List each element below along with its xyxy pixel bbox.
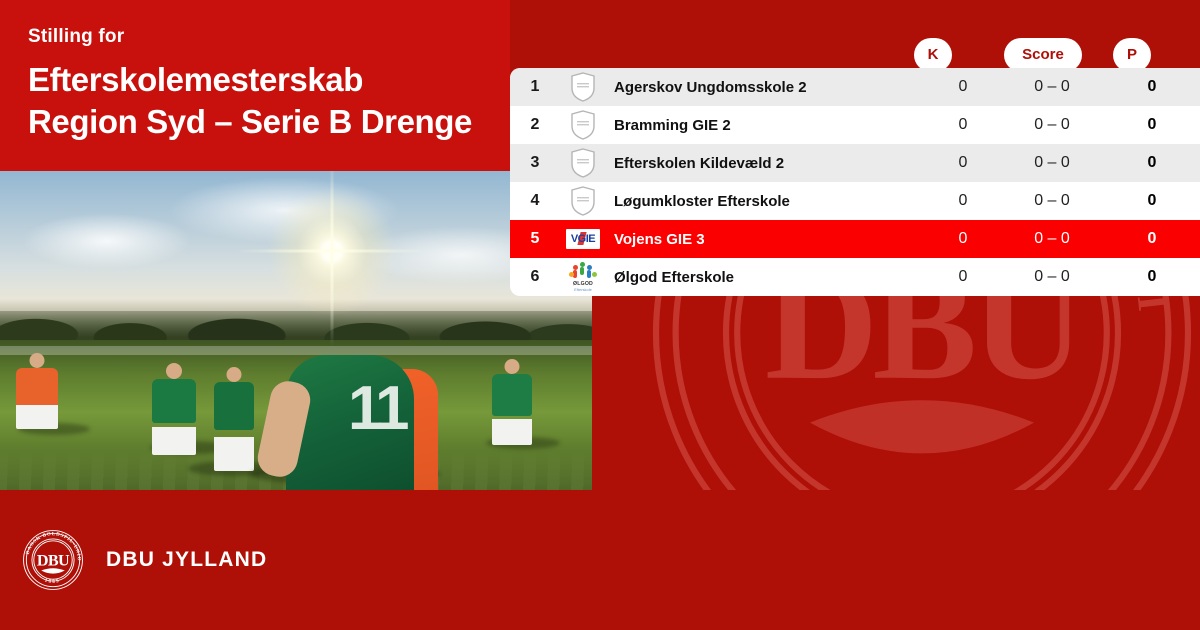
club-logo: ØLGOD Efterskole xyxy=(560,262,606,292)
background-player xyxy=(214,367,254,471)
background-player xyxy=(152,363,196,455)
footer-label: DBU JYLLAND xyxy=(106,548,267,572)
goal-score: 0 – 0 xyxy=(1000,192,1104,210)
matches-played: 0 xyxy=(926,192,1000,210)
club-name: Bramming GIE 2 xyxy=(606,117,926,134)
sun-flare xyxy=(267,186,397,316)
shield-placeholder-icon xyxy=(570,148,596,178)
matches-played: 0 xyxy=(926,230,1000,248)
club-logo xyxy=(560,72,606,102)
goal-score: 0 – 0 xyxy=(1000,78,1104,96)
shield-placeholder-icon xyxy=(570,72,596,102)
table-row-highlighted[interactable]: 5 VGIE Vojens GIE 3 0 0 – 0 0 xyxy=(510,220,1200,258)
points: 0 xyxy=(1104,78,1200,96)
table-row[interactable]: 6 ØLGOD Efterskole Ølgod Efterskole 0 0 … xyxy=(510,258,1200,296)
club-name: Efterskolen Kildevæld 2 xyxy=(606,155,926,172)
row-position: 6 xyxy=(510,268,560,286)
table-row[interactable]: 4 Løgumkloster Efterskole 0 0 – 0 0 xyxy=(510,182,1200,220)
row-position: 2 xyxy=(510,116,560,134)
matches-played: 0 xyxy=(926,268,1000,286)
table-column-badges: K Score P xyxy=(510,38,1200,72)
points: 0 xyxy=(1104,230,1200,248)
footer: DANSK BOLDSPIL-UNION 1889 DBU DBU JYLLAN… xyxy=(0,490,1200,630)
page-title: Efterskolemesterskab Region Syd – Serie … xyxy=(28,59,510,143)
olgod-club-logo-icon: ØLGOD Efterskole xyxy=(568,262,598,292)
dbu-logo-icon: DANSK BOLDSPIL-UNION 1889 DBU xyxy=(22,529,84,591)
goal-score: 0 – 0 xyxy=(1000,230,1104,248)
football-match-photo: 11 xyxy=(0,171,592,490)
points: 0 xyxy=(1104,154,1200,172)
header-kicker: Stilling for xyxy=(28,26,510,49)
table-row[interactable]: 2 Bramming GIE 2 0 0 – 0 0 xyxy=(510,106,1200,144)
club-name: Agerskov Ungdomsskole 2 xyxy=(606,79,926,96)
page-title-line2: Region Syd – Serie B Drenge xyxy=(28,101,510,143)
column-badge-p: P xyxy=(1113,38,1151,72)
shield-placeholder-icon xyxy=(570,186,596,216)
goal-score: 0 – 0 xyxy=(1000,154,1104,172)
table-row[interactable]: 1 Agerskov Ungdomsskole 2 0 0 – 0 0 xyxy=(510,68,1200,106)
goal-score: 0 – 0 xyxy=(1000,116,1104,134)
matches-played: 0 xyxy=(926,116,1000,134)
points: 0 xyxy=(1104,116,1200,134)
points: 0 xyxy=(1104,192,1200,210)
goal-score: 0 – 0 xyxy=(1000,268,1104,286)
background-player xyxy=(492,359,532,445)
matches-played: 0 xyxy=(926,154,1000,172)
olgod-logo-text-2: Efterskole xyxy=(568,287,598,292)
row-position: 3 xyxy=(510,154,560,172)
vgie-logo-text: VGIE xyxy=(571,233,595,245)
row-position: 4 xyxy=(510,192,560,210)
background-player xyxy=(16,353,58,429)
svg-text:1889: 1889 xyxy=(833,482,975,490)
club-logo: VGIE xyxy=(560,229,606,249)
club-name: Løgumkloster Efterskole xyxy=(606,193,926,210)
column-badge-score: Score xyxy=(1004,38,1082,72)
header-block: Stilling for Efterskolemesterskab Region… xyxy=(0,0,510,171)
club-name: Vojens GIE 3 xyxy=(606,231,926,248)
row-position: 5 xyxy=(510,230,560,248)
main-player: 11 xyxy=(268,347,430,490)
column-badge-k: K xyxy=(914,38,952,72)
standings-table: 1 Agerskov Ungdomsskole 2 0 0 – 0 0 2 Br… xyxy=(510,68,1200,296)
club-name: Ølgod Efterskole xyxy=(606,269,926,286)
table-row[interactable]: 3 Efterskolen Kildevæld 2 0 0 – 0 0 xyxy=(510,144,1200,182)
jersey-number: 11 xyxy=(348,373,406,444)
club-logo xyxy=(560,148,606,178)
page-title-line1: Efterskolemesterskab xyxy=(28,59,510,101)
club-logo xyxy=(560,186,606,216)
row-position: 1 xyxy=(510,78,560,96)
shield-placeholder-icon xyxy=(570,110,596,140)
club-logo xyxy=(560,110,606,140)
points: 0 xyxy=(1104,268,1200,286)
vgie-club-logo-icon: VGIE xyxy=(566,229,600,249)
svg-text:DBU: DBU xyxy=(37,553,70,570)
matches-played: 0 xyxy=(926,78,1000,96)
